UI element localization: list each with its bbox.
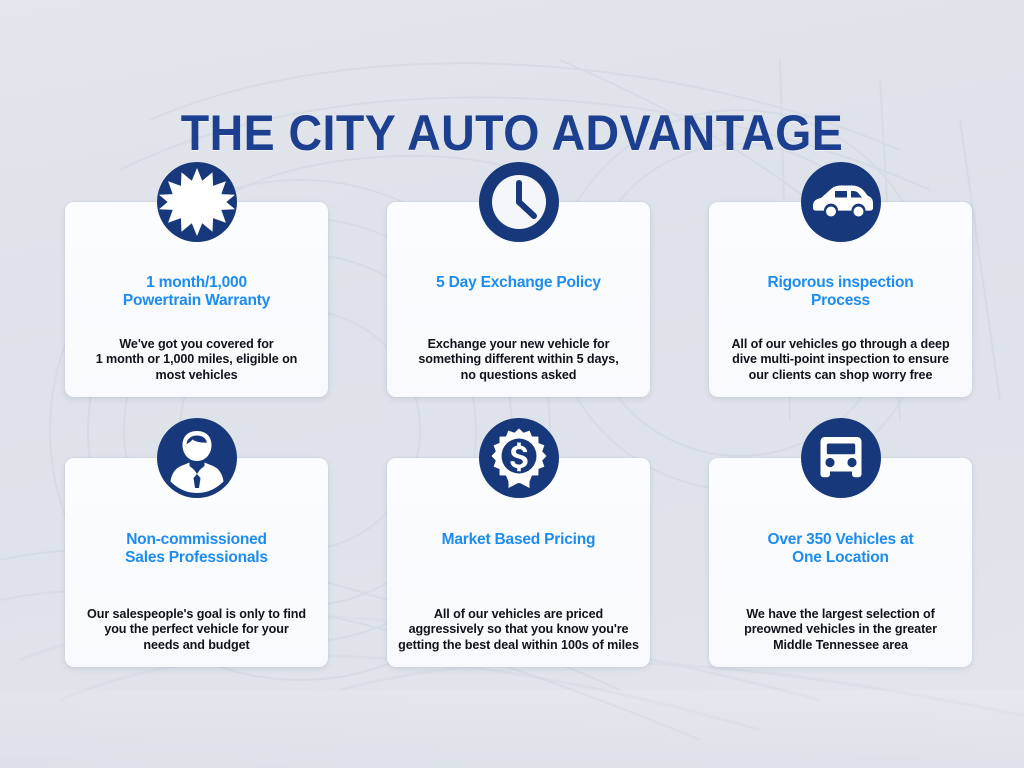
card-heading: Over 350 Vehicles at One Location [709, 531, 972, 567]
card-body-text: Our salespeople's goal is only to find y… [65, 607, 328, 654]
card-body-text: We've got you covered for 1 month or 1,0… [65, 337, 328, 384]
advantage-card-grid: 1 month/1,000 Powertrain Warranty We've … [65, 202, 972, 667]
advantage-card-exchange-policy[interactable]: 5 Day Exchange Policy Exchange your new … [387, 202, 650, 397]
car-front-icon [795, 412, 887, 504]
card-body-text: Exchange your new vehicle for something … [387, 337, 650, 384]
card-heading: 1 month/1,000 Powertrain Warranty [65, 274, 328, 310]
starburst-icon [151, 156, 243, 248]
card-body-text: We have the largest selection of preowne… [709, 607, 972, 654]
clock-icon [473, 156, 565, 248]
card-heading: Market Based Pricing [387, 531, 650, 549]
card-body-text: All of our vehicles go through a deep di… [709, 337, 972, 384]
advantage-card-inspection[interactable]: Rigorous inspection Process All of our v… [709, 202, 972, 397]
card-heading: 5 Day Exchange Policy [387, 274, 650, 292]
card-body-text: All of our vehicles are priced aggressiv… [387, 607, 650, 654]
car-side-icon [795, 156, 887, 248]
salesperson-icon [151, 412, 243, 504]
advantage-card-inventory[interactable]: Over 350 Vehicles at One Location We hav… [709, 458, 972, 667]
infographic-canvas: THE CITY AUTO ADVANTAGE 1 month/1,000 Po… [0, 0, 1024, 768]
advantage-card-warranty[interactable]: 1 month/1,000 Powertrain Warranty We've … [65, 202, 328, 397]
background-bottom-band [0, 690, 1024, 768]
advantage-card-market-pricing[interactable]: Market Based Pricing All of our vehicles… [387, 458, 650, 667]
card-heading: Rigorous inspection Process [709, 274, 972, 310]
dollar-badge-icon [473, 412, 565, 504]
advantage-card-sales-professionals[interactable]: Non-commissioned Sales Professionals Our… [65, 458, 328, 667]
page-title: THE CITY AUTO ADVANTAGE [36, 106, 988, 160]
card-heading: Non-commissioned Sales Professionals [65, 531, 328, 567]
